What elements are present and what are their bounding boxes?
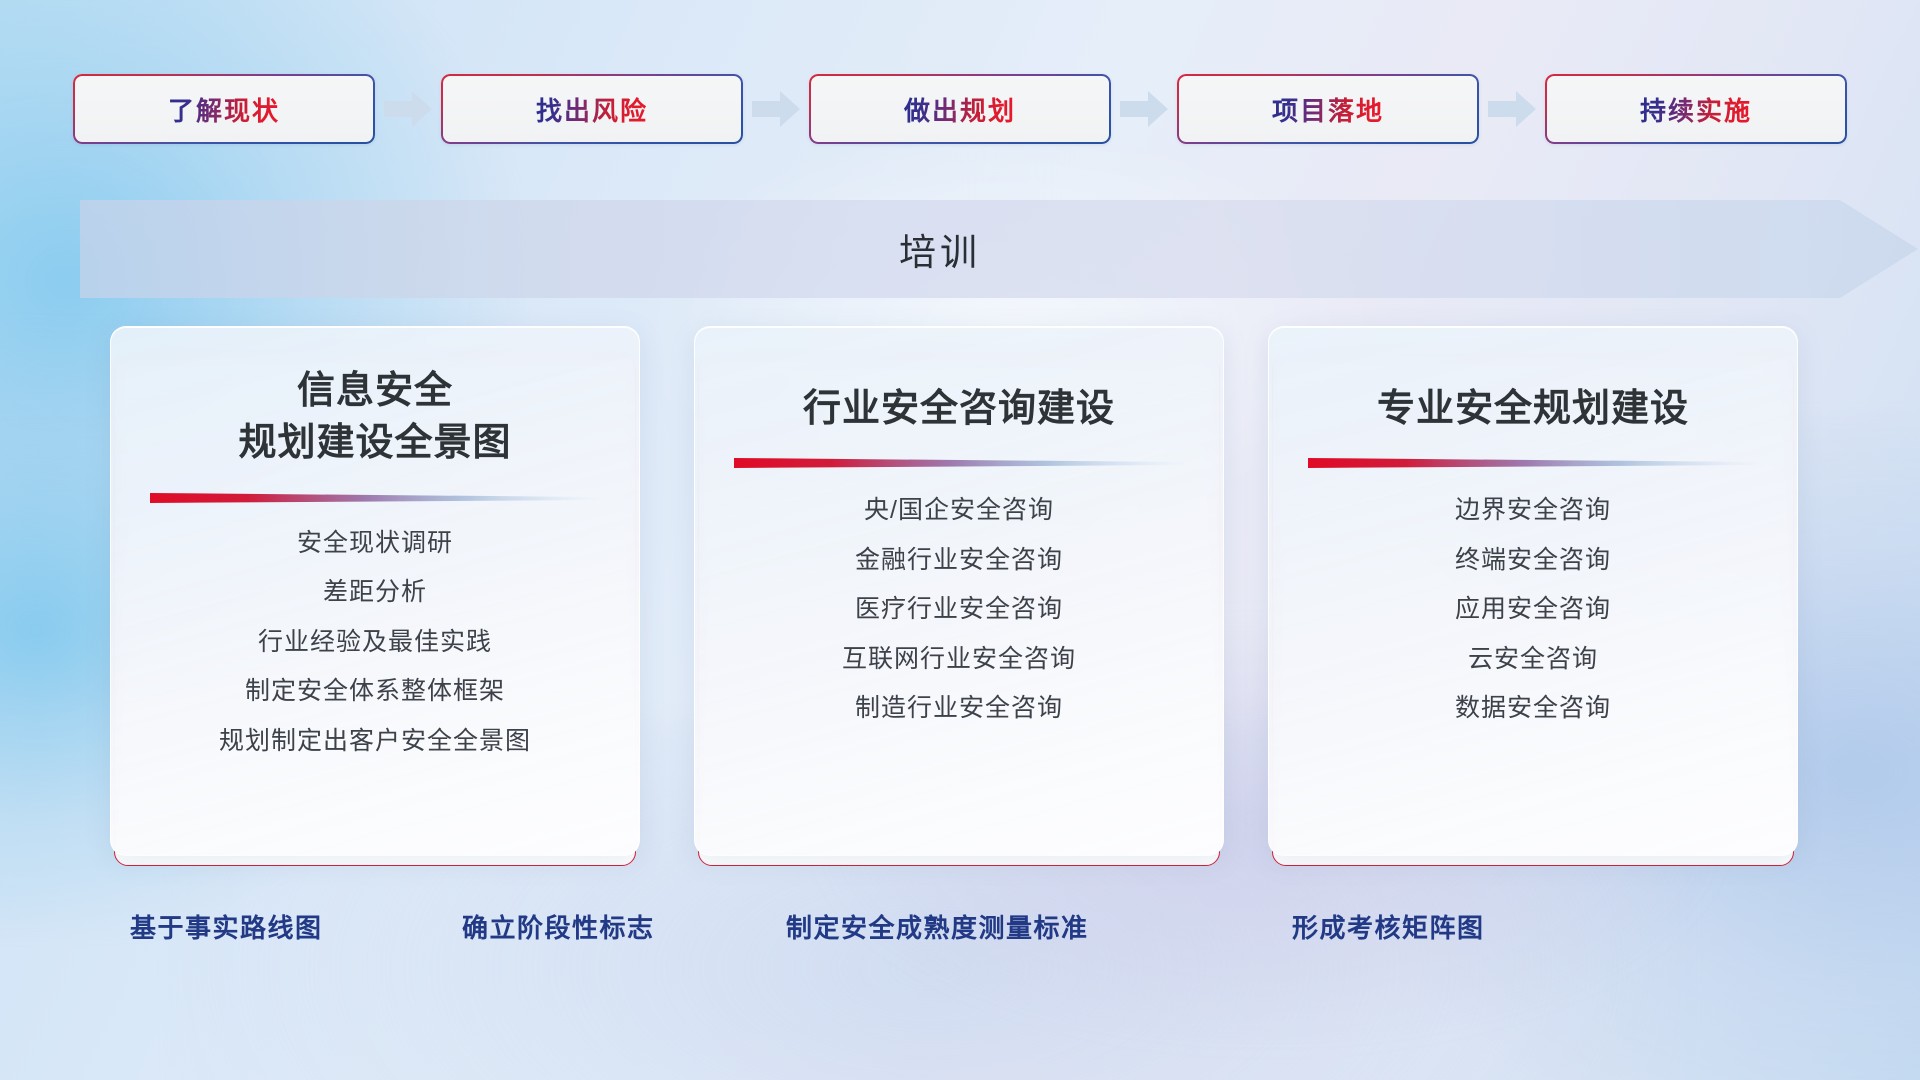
step-label-4: 项目落地 <box>1272 91 1384 128</box>
card-1[interactable]: 信息安全 规划建设全景图 <box>110 326 640 886</box>
list-item: 数据安全咨询 <box>1455 687 1611 730</box>
card-3[interactable]: 专业安全规划建设 <box>1268 326 1798 886</box>
list-item: 医疗行业安全咨询 <box>855 588 1063 631</box>
step-box-5[interactable]: 持续实施 <box>1545 74 1847 144</box>
step-label-5: 持续实施 <box>1640 91 1752 128</box>
caption-2: 确立阶段性标志 <box>462 908 655 945</box>
card-2-title: 行业安全咨询建设 <box>803 365 1115 435</box>
card-2-divider <box>734 455 1184 473</box>
caption-3: 制定安全成熟度测量标准 <box>786 908 1089 945</box>
list-item: 边界安全咨询 <box>1455 489 1611 532</box>
list-item: 规划制定出客户安全全景图 <box>219 720 531 763</box>
card-2-list: 央/国企安全咨询 金融行业安全咨询 医疗行业安全咨询 互联网行业安全咨询 制造行… <box>695 489 1223 730</box>
card-3-list: 边界安全咨询 终端安全咨询 应用安全咨询 云安全咨询 数据安全咨询 <box>1269 489 1797 730</box>
card-3-title-line-1: 专业安全规划建设 <box>1377 383 1689 435</box>
list-item: 央/国企安全咨询 <box>864 489 1054 532</box>
list-item: 行业经验及最佳实践 <box>258 621 492 664</box>
card-1-title: 信息安全 规划建设全景图 <box>238 365 511 470</box>
list-item: 云安全咨询 <box>1468 638 1598 681</box>
step-box-2[interactable]: 找出风险 <box>441 74 743 144</box>
card-3-title: 专业安全规划建设 <box>1377 365 1689 435</box>
caption-4: 形成考核矩阵图 <box>1292 908 1485 945</box>
card-1-title-line-1: 信息安全 <box>238 365 511 417</box>
caption-1: 基于事实路线图 <box>130 908 323 945</box>
list-item: 安全现状调研 <box>297 522 453 565</box>
list-item: 差距分析 <box>323 571 427 614</box>
card-3-glass-panel: 专业安全规划建设 <box>1268 326 1798 856</box>
list-item: 互联网行业安全咨询 <box>842 638 1076 681</box>
step-label-2: 找出风险 <box>536 91 648 128</box>
step-box-1[interactable]: 了解现状 <box>73 74 375 144</box>
caption-row: 基于事实路线图 确立阶段性标志 制定安全成熟度测量标准 形成考核矩阵图 <box>0 908 1920 968</box>
step-box-4[interactable]: 项目落地 <box>1177 74 1479 144</box>
card-1-title-line-2: 规划建设全景图 <box>238 417 511 469</box>
card-3-divider <box>1308 455 1758 473</box>
list-item: 应用安全咨询 <box>1455 588 1611 631</box>
list-item: 金融行业安全咨询 <box>855 539 1063 582</box>
process-step-row: 了解现状 找出风险 做出规划 项目落地 持续实施 <box>0 70 1920 148</box>
card-2-glass-panel: 行业安全咨询建设 <box>694 326 1224 856</box>
step-label-1: 了解现状 <box>168 91 280 128</box>
arrow-right-icon <box>1111 74 1177 144</box>
card-2-title-line-1: 行业安全咨询建设 <box>803 383 1115 435</box>
list-item: 制定安全体系整体框架 <box>245 670 505 713</box>
card-1-divider <box>150 490 600 508</box>
card-1-list: 安全现状调研 差距分析 行业经验及最佳实践 制定安全体系整体框架 规划制定出客户… <box>111 522 639 763</box>
card-row: 信息安全 规划建设全景图 <box>0 326 1920 886</box>
arrow-right-icon <box>1479 74 1545 144</box>
step-box-3[interactable]: 做出规划 <box>809 74 1111 144</box>
training-banner: 培训 <box>0 200 1920 298</box>
arrow-right-icon <box>743 74 809 144</box>
list-item: 终端安全咨询 <box>1455 539 1611 582</box>
card-2[interactable]: 行业安全咨询建设 <box>694 326 1224 886</box>
banner-title: 培训 <box>0 200 1880 298</box>
card-1-glass-panel: 信息安全 规划建设全景图 <box>110 326 640 856</box>
step-label-3: 做出规划 <box>904 91 1016 128</box>
arrow-right-icon <box>375 74 441 144</box>
list-item: 制造行业安全咨询 <box>855 687 1063 730</box>
